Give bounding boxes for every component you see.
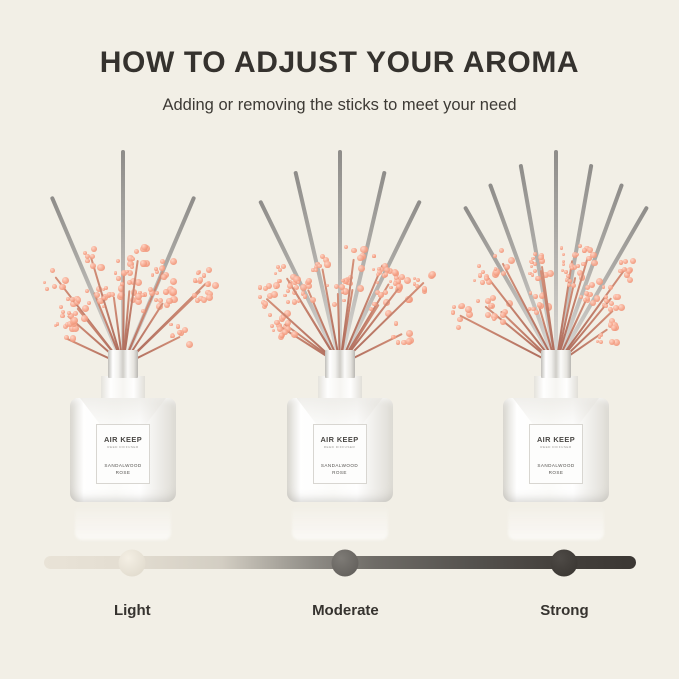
- dried-blossom: [85, 254, 90, 259]
- dried-blossom: [268, 313, 272, 317]
- dried-blossom: [372, 302, 377, 307]
- dried-blossom: [630, 258, 637, 265]
- dried-blossom: [193, 278, 197, 282]
- bottle-label: AIR KEEP REED DIFFUSER SANDALWOOD ROSE: [529, 424, 583, 484]
- dried-blossom: [492, 317, 496, 321]
- dried-blossom: [489, 305, 492, 308]
- dried-blossom: [615, 294, 621, 300]
- bottle-reflection: [75, 504, 171, 540]
- bottle-collar: [541, 350, 571, 378]
- dried-blossom: [283, 294, 286, 297]
- slider-label-light: Light: [114, 602, 151, 619]
- dried-blossom: [473, 279, 476, 282]
- dried-blossom: [155, 291, 159, 295]
- dried-blossom: [389, 286, 393, 290]
- dried-blossom: [451, 311, 455, 315]
- dried-blossom: [537, 302, 542, 307]
- dried-blossom: [582, 248, 587, 253]
- dried-blossom: [500, 312, 506, 318]
- dried-blossom: [404, 277, 411, 284]
- header: HOW TO ADJUST YOUR AROMA Adding or remov…: [0, 46, 679, 116]
- slider-knob-moderate[interactable]: [332, 549, 359, 576]
- label-scent: SANDALWOOD ROSE: [321, 463, 358, 476]
- dried-blossom: [50, 268, 55, 273]
- bottle-neck: [101, 376, 145, 398]
- dried-blossom: [198, 277, 203, 282]
- diffuser-bottle: AIR KEEP REED DIFFUSER SANDALWOOD ROSE: [70, 350, 176, 502]
- bottle-body: AIR KEEP REED DIFFUSER SANDALWOOD ROSE: [503, 398, 609, 502]
- dried-blossom: [148, 287, 153, 292]
- dried-blossom: [90, 254, 96, 260]
- diffuser-bottle: AIR KEEP REED DIFFUSER SANDALWOOD ROSE: [503, 350, 609, 502]
- dried-blossom: [389, 280, 393, 284]
- dried-blossom: [114, 271, 118, 275]
- dried-blossom: [392, 269, 399, 276]
- dried-blossom: [60, 314, 64, 318]
- dried-blossom: [530, 265, 533, 268]
- dried-blossom: [120, 282, 124, 286]
- dried-blossom: [324, 261, 330, 267]
- dried-blossom: [342, 299, 346, 303]
- slider-track[interactable]: [44, 556, 636, 569]
- dried-blossom: [59, 284, 66, 291]
- page-subtitle: Adding or removing the sticks to meet yo…: [0, 94, 679, 116]
- dried-blossom: [396, 284, 401, 289]
- dried-blossom: [62, 277, 69, 284]
- label-scent-line1: SANDALWOOD: [537, 463, 574, 468]
- bottle-body: AIR KEEP REED DIFFUSER SANDALWOOD ROSE: [287, 398, 393, 502]
- dried-blossom: [422, 286, 427, 291]
- dried-blossom: [351, 248, 356, 253]
- dried-blossom: [159, 266, 164, 271]
- dried-blossom: [97, 264, 104, 271]
- dried-blossom: [604, 295, 608, 299]
- dried-blossom: [85, 259, 90, 264]
- dried-blossom: [589, 282, 595, 288]
- dried-blossom: [258, 285, 262, 289]
- page-title: HOW TO ADJUST YOUR AROMA: [0, 46, 679, 80]
- dried-blossom: [306, 278, 312, 284]
- dried-blossom: [378, 292, 384, 298]
- product-moderate: AIR KEEP REED DIFFUSER SANDALWOOD ROSE: [239, 150, 441, 520]
- bottle-label: AIR KEEP REED DIFFUSER SANDALWOOD ROSE: [96, 424, 150, 484]
- dried-blossom: [372, 268, 376, 272]
- dried-blossom: [131, 257, 135, 261]
- reed-arrangement-light: [22, 150, 224, 365]
- slider-knob-strong[interactable]: [551, 549, 578, 576]
- dried-blossom: [141, 244, 148, 251]
- dried-blossom: [626, 268, 632, 274]
- dried-blossom: [154, 267, 158, 271]
- dried-blossom: [567, 283, 571, 287]
- dried-blossom: [282, 329, 287, 334]
- dried-blossom: [476, 299, 480, 303]
- label-scent: SANDALWOOD ROSE: [104, 463, 141, 476]
- label-scent-line1: SANDALWOOD: [321, 463, 358, 468]
- dried-blossom: [258, 295, 262, 299]
- dried-blossom: [52, 284, 57, 289]
- dried-blossom: [341, 279, 345, 283]
- dried-blossom: [591, 260, 598, 267]
- dried-blossom: [536, 276, 541, 281]
- dried-blossom: [297, 299, 301, 303]
- dried-blossom: [538, 255, 543, 260]
- dried-blossom: [287, 283, 293, 289]
- dried-blossom: [531, 273, 535, 277]
- dried-blossom: [508, 257, 515, 264]
- dried-blossom: [206, 294, 213, 301]
- slider-label-strong: Strong: [540, 602, 588, 619]
- dried-blossom: [529, 291, 533, 295]
- label-brand: AIR KEEP: [537, 436, 575, 444]
- label-scent-line2: ROSE: [332, 470, 347, 475]
- dried-blossom: [358, 265, 365, 272]
- dried-blossom: [416, 278, 420, 282]
- dried-blossom: [357, 255, 364, 262]
- reed-stick: [554, 150, 558, 365]
- dried-blossom: [599, 340, 603, 344]
- dried-blossom: [130, 265, 134, 269]
- dried-blossom: [91, 246, 97, 252]
- product-light: AIR KEEP REED DIFFUSER SANDALWOOD ROSE: [22, 150, 224, 520]
- dried-blossom: [274, 272, 277, 275]
- dried-blossom: [396, 340, 401, 345]
- dried-blossom: [576, 264, 580, 268]
- dried-blossom: [151, 274, 154, 277]
- dried-blossom: [141, 309, 145, 313]
- label-scent-line2: ROSE: [116, 470, 131, 475]
- dried-blossom: [590, 252, 596, 258]
- label-tagline: REED DIFFUSER: [540, 445, 571, 450]
- dried-blossom: [344, 245, 348, 249]
- dried-blossom: [67, 311, 71, 315]
- dried-blossom: [533, 294, 538, 299]
- dried-blossom: [609, 339, 615, 345]
- dried-blossom: [457, 317, 462, 322]
- dried-blossom: [571, 283, 576, 288]
- dried-blossom: [562, 253, 566, 257]
- dried-blossom: [384, 272, 389, 277]
- diffuser-bottle: AIR KEEP REED DIFFUSER SANDALWOOD ROSE: [287, 350, 393, 502]
- dried-blossom: [73, 311, 78, 316]
- dried-blossom: [564, 270, 567, 273]
- dried-blossom: [533, 252, 537, 256]
- dried-blossom: [326, 284, 329, 287]
- bottle-reflection: [292, 504, 388, 540]
- reed-arrangement-strong: [455, 150, 657, 365]
- dried-blossom: [619, 260, 623, 264]
- dried-blossom: [623, 259, 628, 264]
- dried-blossom: [76, 297, 81, 302]
- dried-blossom: [45, 287, 49, 291]
- dried-blossom: [531, 257, 535, 261]
- dried-blossom: [576, 253, 579, 256]
- dried-blossom: [530, 261, 534, 265]
- dried-blossom: [170, 288, 177, 295]
- bottle-collar: [108, 350, 138, 378]
- bottle-neck: [534, 376, 578, 398]
- dried-blossom: [59, 305, 63, 309]
- dried-blossom: [406, 330, 413, 337]
- reed-arrangement-moderate: [239, 150, 441, 365]
- bottle-label: AIR KEEP REED DIFFUSER SANDALWOOD ROSE: [313, 424, 367, 484]
- dried-blossom: [270, 324, 274, 328]
- dried-blossom: [71, 317, 78, 324]
- dried-blossom: [604, 304, 608, 308]
- dried-blossom: [372, 254, 376, 258]
- dried-blossom: [81, 315, 88, 322]
- dried-blossom: [263, 301, 268, 306]
- slider-label-row: Light Moderate Strong: [0, 602, 679, 624]
- dried-blossom: [116, 276, 120, 280]
- dried-blossom: [602, 285, 606, 289]
- label-tagline: REED DIFFUSER: [324, 445, 355, 450]
- dried-blossom: [170, 258, 177, 265]
- dried-blossom: [499, 248, 504, 253]
- dried-blossom: [155, 270, 159, 274]
- bottle-collar: [325, 350, 355, 378]
- dried-blossom: [310, 297, 316, 303]
- dried-blossom: [278, 268, 282, 272]
- dried-blossom: [87, 301, 91, 305]
- dried-blossom: [608, 285, 613, 290]
- dried-blossom: [134, 249, 139, 254]
- label-scent-line1: SANDALWOOD: [104, 463, 141, 468]
- bottle-neck: [318, 376, 362, 398]
- dried-blossom: [627, 277, 633, 283]
- dried-blossom: [176, 324, 181, 329]
- dried-blossom: [341, 290, 345, 294]
- label-brand: AIR KEEP: [320, 436, 358, 444]
- dried-blossom: [376, 273, 379, 276]
- dried-blossom: [192, 293, 196, 297]
- dried-blossom: [562, 263, 566, 267]
- dried-blossom: [263, 286, 268, 291]
- dried-blossom: [201, 297, 207, 303]
- dried-blossom: [303, 294, 308, 299]
- dried-blossom: [477, 264, 481, 268]
- dried-blossom: [560, 246, 563, 249]
- dried-blossom: [478, 273, 482, 277]
- dried-blossom: [186, 341, 193, 348]
- dried-blossom: [82, 305, 89, 312]
- bottle-reflection: [508, 504, 604, 540]
- dried-blossom: [291, 331, 298, 338]
- dried-blossom: [182, 327, 188, 333]
- dried-blossom: [170, 278, 177, 285]
- bottle-body: AIR KEEP REED DIFFUSER SANDALWOOD ROSE: [70, 398, 176, 502]
- dried-blossom: [212, 282, 219, 289]
- dried-blossom: [158, 298, 163, 303]
- dried-blossom: [70, 335, 77, 342]
- dried-blossom: [493, 254, 497, 258]
- dried-blossom: [459, 303, 465, 309]
- slider-knob-light[interactable]: [119, 549, 146, 576]
- label-scent-line2: ROSE: [549, 470, 564, 475]
- label-brand: AIR KEEP: [104, 436, 142, 444]
- dried-blossom: [281, 264, 286, 269]
- dried-blossom: [161, 274, 166, 279]
- dried-blossom: [534, 310, 539, 315]
- dried-blossom: [578, 244, 582, 248]
- dried-blossom: [110, 292, 115, 297]
- dried-blossom: [334, 284, 339, 289]
- dried-blossom: [456, 325, 461, 330]
- dried-blossom: [547, 270, 554, 277]
- dried-blossom: [271, 291, 278, 298]
- dried-blossom: [169, 323, 173, 327]
- dried-blossom: [465, 306, 472, 313]
- dried-blossom: [141, 293, 145, 297]
- dried-blossom: [357, 285, 364, 292]
- dried-blossom: [206, 267, 212, 273]
- dried-blossom: [104, 286, 108, 290]
- dried-blossom: [332, 302, 337, 307]
- dried-blossom: [166, 298, 173, 305]
- dried-blossom: [391, 335, 395, 339]
- dried-blossom: [85, 289, 89, 293]
- label-scent: SANDALWOOD ROSE: [537, 463, 574, 476]
- intensity-slider[interactable]: Light Moderate Strong: [0, 556, 679, 569]
- dried-blossom: [90, 263, 96, 269]
- dried-blossom: [286, 300, 290, 304]
- reed-stick: [554, 182, 624, 365]
- label-tagline: REED DIFFUSER: [107, 445, 138, 450]
- dried-blossom: [125, 270, 128, 273]
- dried-blossom: [383, 290, 388, 295]
- dried-blossom: [127, 280, 132, 285]
- dried-blossom: [485, 298, 491, 304]
- dried-blossom: [452, 305, 456, 309]
- dried-blossom: [480, 280, 485, 285]
- slider-label-moderate: Moderate: [312, 602, 379, 619]
- dried-blossom: [163, 289, 169, 295]
- dried-blossom: [64, 335, 69, 340]
- dried-blossom: [485, 312, 491, 318]
- dried-blossom: [196, 271, 200, 275]
- dried-blossom: [598, 335, 602, 339]
- dried-blossom: [116, 259, 120, 263]
- dried-blossom: [272, 329, 275, 332]
- dried-blossom: [406, 338, 413, 345]
- dried-blossom: [140, 260, 146, 266]
- dried-blossom: [286, 289, 290, 293]
- dried-blossom: [587, 247, 593, 253]
- dried-blossom: [102, 296, 105, 299]
- dried-blossom: [56, 322, 59, 325]
- product-strong: AIR KEEP REED DIFFUSER SANDALWOOD ROSE: [455, 150, 657, 520]
- dried-blossom: [429, 271, 436, 278]
- dried-blossom: [583, 298, 587, 302]
- dried-blossom: [135, 279, 142, 286]
- infographic-page: HOW TO ADJUST YOUR AROMA Adding or remov…: [0, 0, 679, 679]
- product-row: AIR KEEP REED DIFFUSER SANDALWOOD ROSE: [0, 150, 679, 520]
- dried-blossom: [394, 321, 398, 325]
- dried-blossom: [66, 297, 70, 301]
- dried-blossom: [43, 281, 46, 284]
- dried-blossom: [504, 264, 510, 270]
